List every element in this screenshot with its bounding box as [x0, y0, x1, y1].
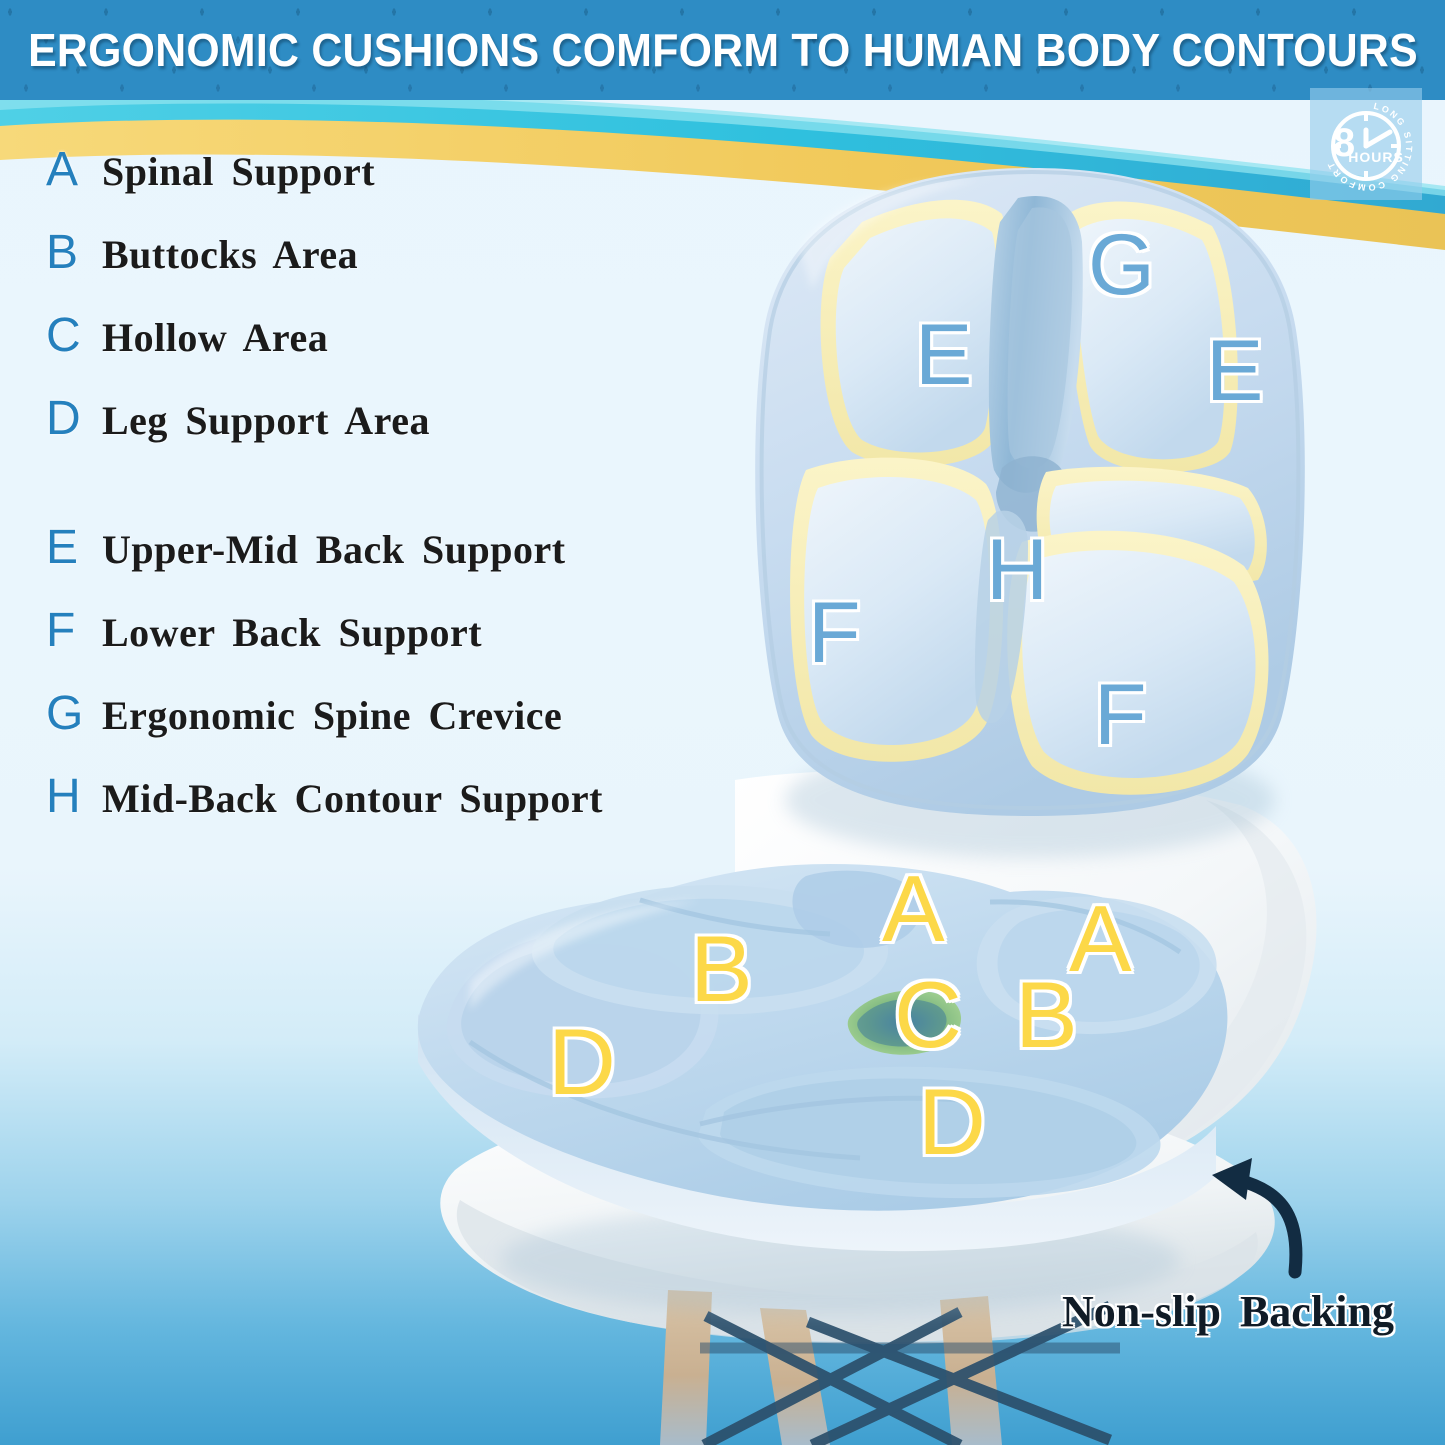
cushion-marker: C — [894, 968, 962, 1062]
legend-label: Leg Support Area — [102, 401, 430, 441]
header-banner: ERGONOMIC CUSHIONS COMFORM TO HUMAN BODY… — [0, 0, 1445, 100]
page-title: ERGONOMIC CUSHIONS COMFORM TO HUMAN BODY… — [28, 23, 1418, 77]
legend-item: C Hollow Area — [46, 312, 686, 395]
legend-group-back: E Upper-Mid Back Support F Lower Back Su… — [46, 524, 686, 856]
legend-letter: C — [46, 312, 102, 360]
legend-letter: A — [46, 146, 102, 194]
legend-item: A Spinal Support — [46, 146, 686, 229]
cushion-marker: D — [548, 1015, 616, 1109]
chair-struts — [700, 1306, 1120, 1445]
cushion-marker: F — [808, 590, 861, 676]
legend-group-divider — [46, 478, 686, 524]
callout-arrow — [1212, 1158, 1296, 1272]
chair-legs — [660, 1290, 1002, 1445]
cushion-marker: E — [1206, 328, 1263, 414]
legend-letter: B — [46, 229, 102, 277]
legend-letter: H — [46, 773, 102, 821]
legend-label: Upper-Mid Back Support — [102, 530, 566, 570]
legend-item: B Buttocks Area — [46, 229, 686, 312]
legend-letter: E — [46, 524, 102, 572]
badge-unit: HOURS — [1348, 149, 1404, 165]
legend-label: Spinal Support — [102, 152, 375, 192]
cushion-marker: G — [1088, 222, 1155, 308]
legend-label: Ergonomic Spine Crevice — [102, 696, 562, 736]
legend-letter: D — [46, 395, 102, 443]
back-cushion — [755, 168, 1305, 858]
legend-group-seat: A Spinal Support B Buttocks Area C Hollo… — [46, 146, 686, 478]
legend: A Spinal Support B Buttocks Area C Hollo… — [46, 146, 686, 856]
cushion-marker: A — [882, 862, 945, 956]
legend-item: G Ergonomic Spine Crevice — [46, 690, 686, 773]
legend-letter: F — [46, 607, 102, 655]
non-slip-backing-callout: Non-slip Backing — [1062, 1290, 1394, 1334]
legend-item: F Lower Back Support — [46, 607, 686, 690]
legend-item: H Mid-Back Contour Support — [46, 773, 686, 856]
legend-item: E Upper-Mid Back Support — [46, 524, 686, 607]
legend-item: D Leg Support Area — [46, 395, 686, 478]
cushion-marker: E — [915, 312, 972, 398]
legend-letter: G — [46, 690, 102, 738]
infographic-canvas: ERGONOMIC CUSHIONS COMFORM TO HUMAN BODY… — [0, 0, 1445, 1445]
long-sitting-comfort-badge: 8 HOURS LONG SITTING COMFORT — [1310, 88, 1422, 200]
legend-label: Hollow Area — [102, 318, 328, 358]
cushion-marker: F — [1094, 672, 1147, 758]
cushion-marker: B — [690, 922, 753, 1016]
cushion-marker: D — [918, 1075, 986, 1169]
cushion-marker: H — [986, 527, 1048, 613]
legend-label: Mid-Back Contour Support — [102, 779, 603, 819]
legend-label: Buttocks Area — [102, 235, 358, 275]
cushion-marker: A — [1069, 892, 1132, 986]
legend-label: Lower Back Support — [102, 613, 482, 653]
